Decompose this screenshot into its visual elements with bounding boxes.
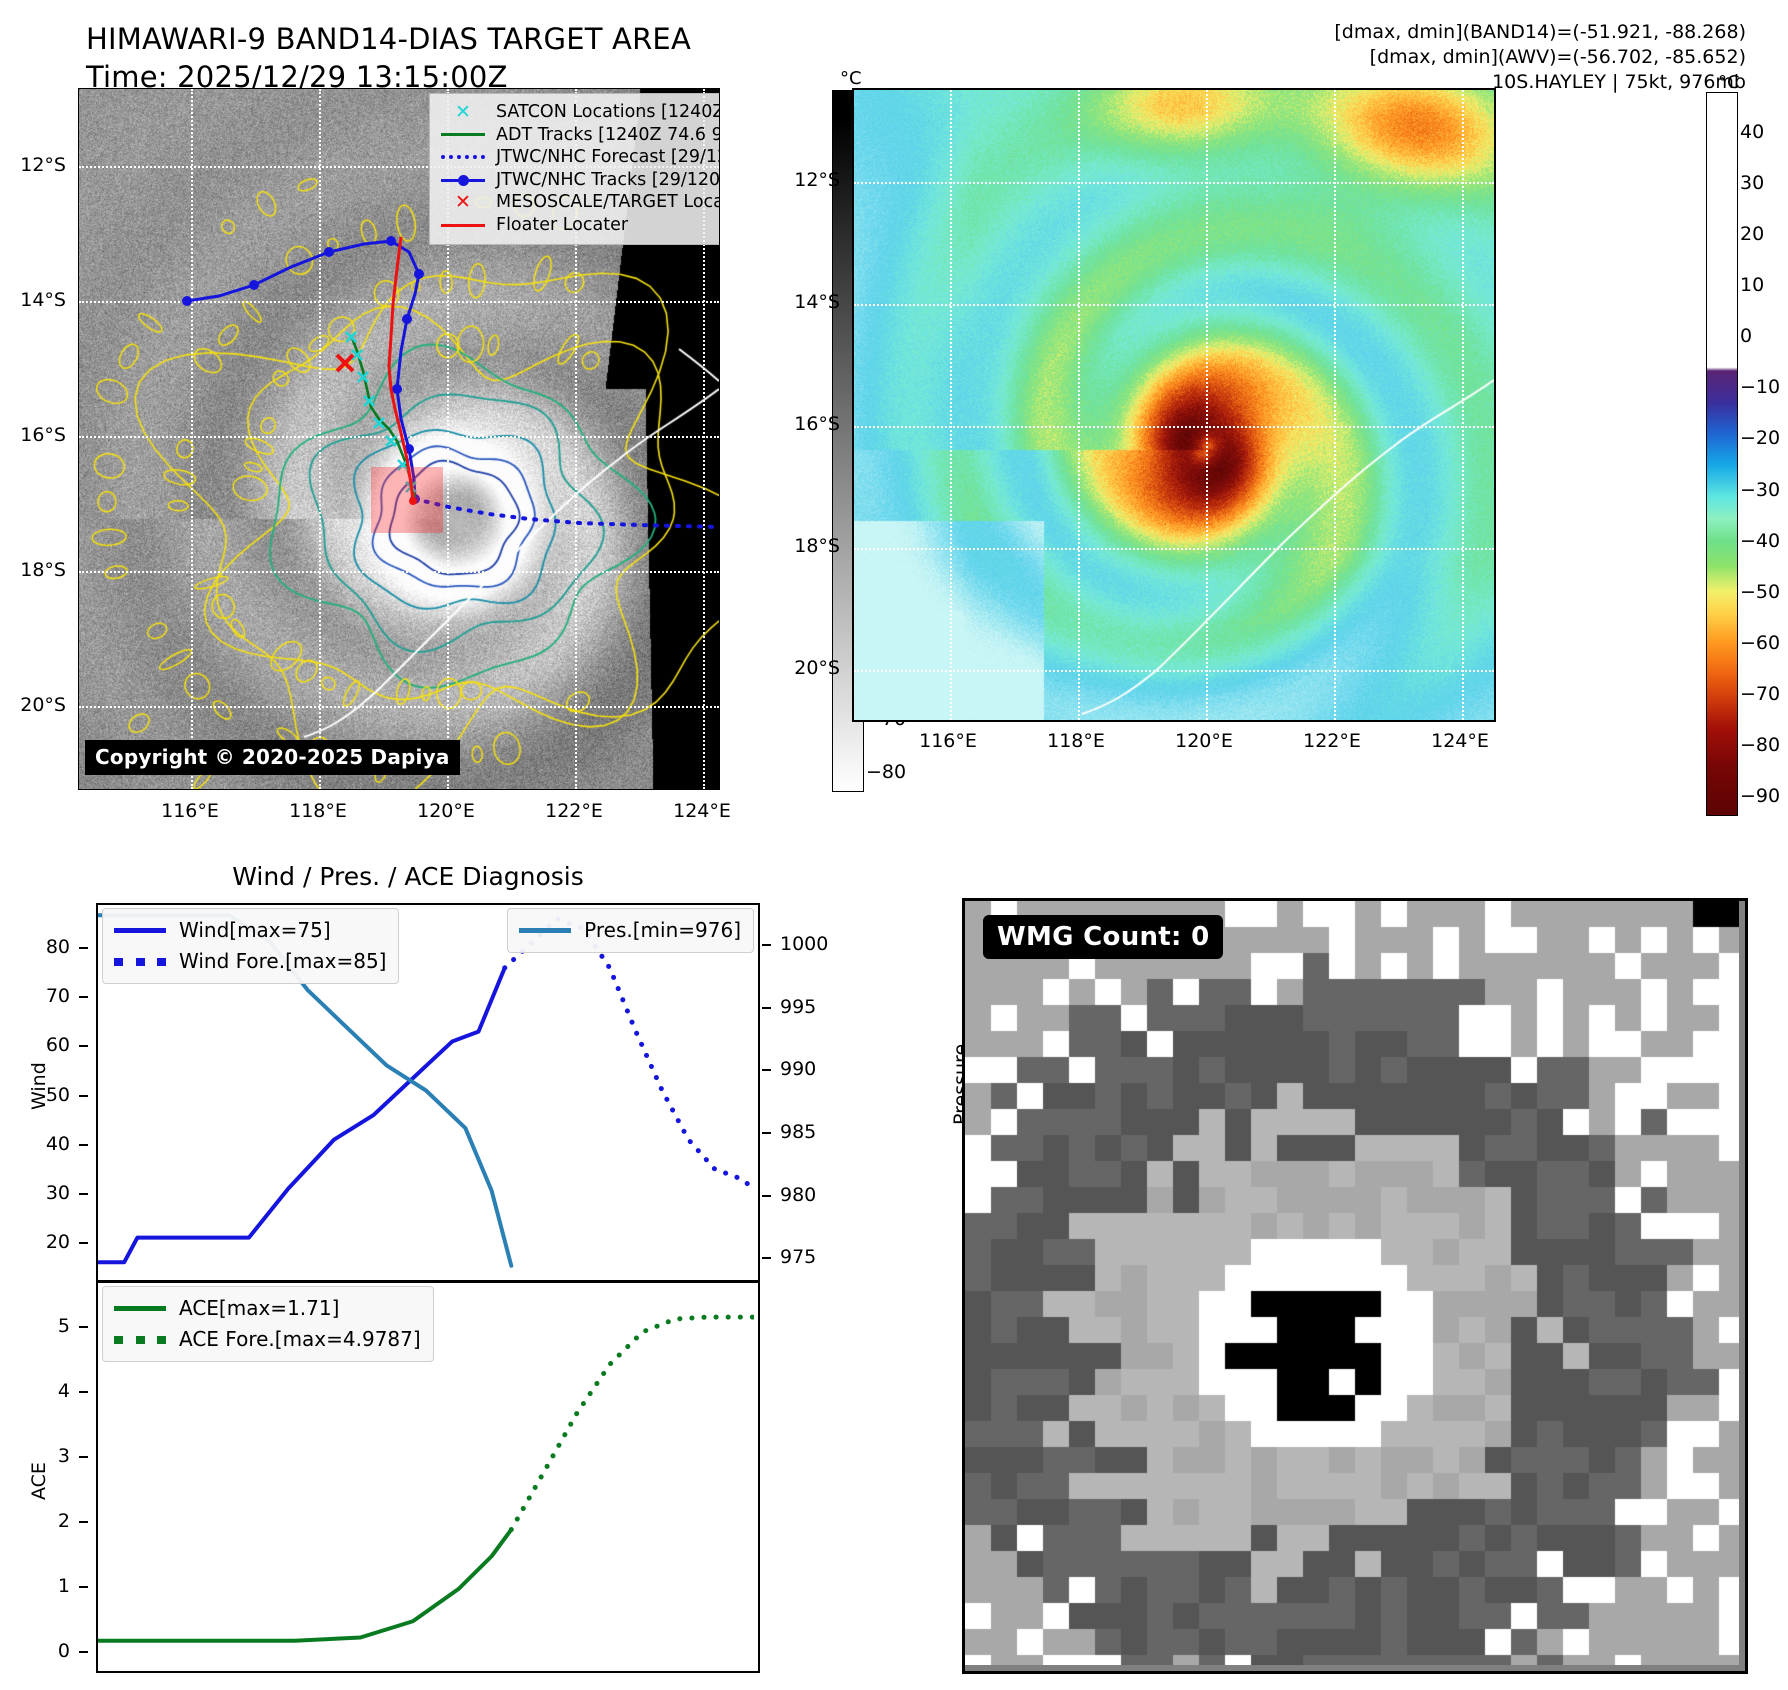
colorbar-tick: −40: [1740, 530, 1780, 552]
tick-mark: [79, 1326, 88, 1328]
lon-tick: 116°E: [919, 730, 977, 752]
axis-tick: 5: [10, 1315, 70, 1337]
pressure-legend: Pres.[min=976]: [507, 908, 754, 953]
satcon-x-icon: ✕: [437, 103, 489, 122]
colorbar-tick: −50: [1740, 581, 1780, 603]
axis-tick: 1000: [780, 933, 840, 955]
wind-line-icon: [111, 928, 169, 933]
lat-tick: 18°S: [770, 535, 840, 557]
lon-tick: 120°E: [1175, 730, 1233, 752]
tick-mark: [79, 1586, 88, 1588]
legend-label: MESOSCALE/TARGET Location: [496, 191, 720, 214]
legend-item: Floater Locater: [437, 214, 720, 237]
lon-tick: 124°E: [1431, 730, 1489, 752]
colorbar-tick: −80: [1740, 734, 1780, 756]
tick-mark: [762, 1257, 771, 1259]
tick-mark: [79, 1242, 88, 1244]
colorbar-tick: 10: [1740, 274, 1764, 296]
lat-tick: 16°S: [770, 413, 840, 435]
lat-tick: 14°S: [0, 289, 66, 311]
legend-label: JTWC/NHC Forecast [29/1200Z]: [496, 146, 720, 169]
legend-label: JTWC/NHC Tracks [29/1200Z]: [496, 169, 720, 192]
axis-tick: 975: [780, 1246, 840, 1268]
lat-tick: 12°S: [0, 154, 66, 176]
tick-mark: [762, 1132, 771, 1134]
tick-mark: [79, 947, 88, 949]
lon-tick: 118°E: [1047, 730, 1105, 752]
tick-mark: [79, 996, 88, 998]
lat-tick: 14°S: [770, 291, 840, 313]
colorbar-tick: −60: [1740, 632, 1780, 654]
tick-mark: [79, 1193, 88, 1195]
axis-tick: 995: [780, 996, 840, 1018]
lat-tick: 20°S: [770, 657, 840, 679]
lat-tick: 12°S: [770, 169, 840, 191]
colorbar-tick: −10: [1740, 376, 1780, 398]
grid-line-lon: [950, 90, 952, 720]
pressure-y-tick-labels: 9759809859909951000: [762, 903, 852, 1278]
colorbar-tick: 20: [1740, 223, 1764, 245]
grid-line-lon: [1078, 90, 1080, 720]
legend-item: ✕ SATCON Locations [1240Z 66 978]: [437, 101, 720, 124]
lat-tick: 18°S: [0, 559, 66, 581]
grid-line-lat: [854, 670, 1494, 672]
legend-item: ✕ MESOSCALE/TARGET Location: [437, 191, 720, 214]
axis-tick: 980: [780, 1184, 840, 1206]
awv-satellite-image[interactable]: [852, 88, 1496, 722]
mesoscale-x-icon: ✕: [437, 193, 489, 212]
ir-satellite-image[interactable]: ✕ SATCON Locations [1240Z 66 978] ADT Tr…: [78, 88, 720, 790]
axis-tick: 50: [10, 1084, 70, 1106]
tick-mark: [79, 1456, 88, 1458]
ace-chart[interactable]: ACE[max=1.71] ACE Fore.[max=4.9787]: [96, 1281, 760, 1673]
lon-tick: 118°E: [289, 800, 347, 822]
lon-tick: 116°E: [161, 800, 219, 822]
grid-line-lat: [854, 182, 1494, 184]
axis-tick: 3: [10, 1445, 70, 1467]
tick-mark: [79, 1651, 88, 1653]
ace-y-tick-labels: 012345: [0, 1281, 88, 1669]
axis-tick: 985: [780, 1121, 840, 1143]
colorbar-tick: −30: [1740, 479, 1780, 501]
lat-tick: 20°S: [0, 694, 66, 716]
awv-colorbar-ticks: 403020100−10−20−30−40−50−60−70−80−90: [1740, 92, 1788, 814]
legend-label: ADT Tracks [1240Z 74.6 977.2]: [496, 124, 720, 147]
tick-mark: [79, 1045, 88, 1047]
legend-label: Wind Fore.[max=85]: [179, 946, 386, 977]
awv-lon-tick-labels: 116°E 118°E 120°E 122°E 124°E: [852, 730, 1492, 756]
axis-tick: 60: [10, 1034, 70, 1056]
awv-colorbar-title: °C: [1718, 72, 1740, 93]
adt-line-icon: [437, 133, 489, 136]
diagnosis-title: Wind / Pres. / ACE Diagnosis: [78, 862, 738, 891]
page-title: HIMAWARI-9 BAND14-DIAS TARGET AREA Time:…: [86, 20, 691, 96]
colorbar-tick: −70: [1740, 683, 1780, 705]
axis-tick: 80: [10, 936, 70, 958]
legend-label: Floater Locater: [496, 214, 628, 237]
dmax-awv-text: [dmax, dmin](AWV)=(-56.702, -85.652): [1126, 45, 1746, 70]
legend-item: ACE Fore.[max=4.9787]: [111, 1324, 421, 1355]
colorbar-tick: 40: [1740, 121, 1764, 143]
wmg-count-badge: WMG Count: 0: [983, 915, 1223, 959]
lon-tick: 120°E: [417, 800, 475, 822]
legend-item: Pres.[min=976]: [516, 915, 741, 946]
lon-tick: 124°E: [673, 800, 731, 822]
colorbar-tick: −20: [1740, 427, 1780, 449]
tick-mark: [762, 1007, 771, 1009]
axis-tick: 990: [780, 1058, 840, 1080]
ir-colorbar-title: °C: [840, 68, 862, 89]
tick-mark: [79, 1521, 88, 1523]
axis-tick: 1: [10, 1575, 70, 1597]
awv-header-info: [dmax, dmin](BAND14)=(-51.921, -88.268) …: [1126, 20, 1746, 95]
legend-label: Wind[max=75]: [179, 915, 331, 946]
tick-mark: [79, 1095, 88, 1097]
colorbar-tick: 0: [1740, 325, 1752, 347]
grid-line-lon: [1462, 90, 1464, 720]
axis-tick: 4: [10, 1380, 70, 1402]
title-main: HIMAWARI-9 BAND14-DIAS TARGET AREA: [86, 20, 691, 58]
ir-legend: ✕ SATCON Locations [1240Z 66 978] ADT Tr…: [429, 93, 720, 245]
colorbar-tick: −90: [1740, 785, 1780, 807]
tick-mark: [79, 1391, 88, 1393]
forecast-dotted-line-icon: [437, 155, 489, 159]
axis-tick: 70: [10, 985, 70, 1007]
legend-label: SATCON Locations [1240Z 66 978]: [496, 101, 720, 124]
ace-line-icon: [111, 1306, 169, 1311]
legend-label: ACE[max=1.71]: [179, 1293, 339, 1324]
ace-legend: ACE[max=1.71] ACE Fore.[max=4.9787]: [102, 1286, 434, 1362]
legend-label: ACE Fore.[max=4.9787]: [179, 1324, 421, 1355]
legend-item: ADT Tracks [1240Z 74.6 977.2]: [437, 124, 720, 147]
copyright-notice: Copyright © 2020-2025 Dapiya: [85, 740, 460, 775]
pressure-line-icon: [516, 928, 574, 933]
axis-tick: 30: [10, 1182, 70, 1204]
awv-colorbar: [1706, 92, 1738, 816]
legend-item: ACE[max=1.71]: [111, 1293, 421, 1324]
lon-tick: 122°E: [545, 800, 603, 822]
grid-line-lon: [1334, 90, 1336, 720]
axis-tick: 40: [10, 1133, 70, 1155]
track-line-marker-icon: [437, 175, 489, 185]
axis-tick: 20: [10, 1231, 70, 1253]
grid-line-lat: [854, 548, 1494, 550]
lat-tick: 16°S: [0, 424, 66, 446]
floater-line-icon: [437, 224, 489, 227]
legend-item: Wind[max=75]: [111, 915, 386, 946]
tick-mark: [79, 1144, 88, 1146]
wmg-panel[interactable]: WMG Count: 0: [962, 898, 1748, 1674]
colorbar-tick: 30: [1740, 172, 1764, 194]
grid-line-lat: [854, 426, 1494, 428]
dmax-band14-text: [dmax, dmin](BAND14)=(-51.921, -88.268): [1126, 20, 1746, 45]
ir-lon-tick-labels: 116°E 118°E 120°E 122°E 124°E: [78, 800, 718, 826]
tick-mark: [762, 1195, 771, 1197]
legend-item: JTWC/NHC Tracks [29/1200Z]: [437, 169, 720, 192]
axis-tick: 0: [10, 1640, 70, 1662]
ace-forecast-dotted-icon: [111, 1336, 169, 1344]
wind-y-tick-labels: 20304050607080: [0, 903, 88, 1278]
colorbar-tick: −80: [866, 761, 906, 783]
axis-tick: 2: [10, 1510, 70, 1532]
legend-item: JTWC/NHC Forecast [29/1200Z]: [437, 146, 720, 169]
wmg-canvas: [965, 901, 1739, 1665]
wind-pressure-chart[interactable]: Wind[max=75] Wind Fore.[max=85] Pres.[mi…: [96, 903, 760, 1282]
wind-legend: Wind[max=75] Wind Fore.[max=85]: [102, 908, 399, 984]
grid-line-lat: [854, 304, 1494, 306]
wind-forecast-dotted-icon: [111, 958, 169, 966]
legend-item: Wind Fore.[max=85]: [111, 946, 386, 977]
tick-mark: [762, 944, 771, 946]
tick-mark: [762, 1069, 771, 1071]
lon-tick: 122°E: [1303, 730, 1361, 752]
legend-label: Pres.[min=976]: [584, 915, 741, 946]
grid-line-lon: [1206, 90, 1208, 720]
